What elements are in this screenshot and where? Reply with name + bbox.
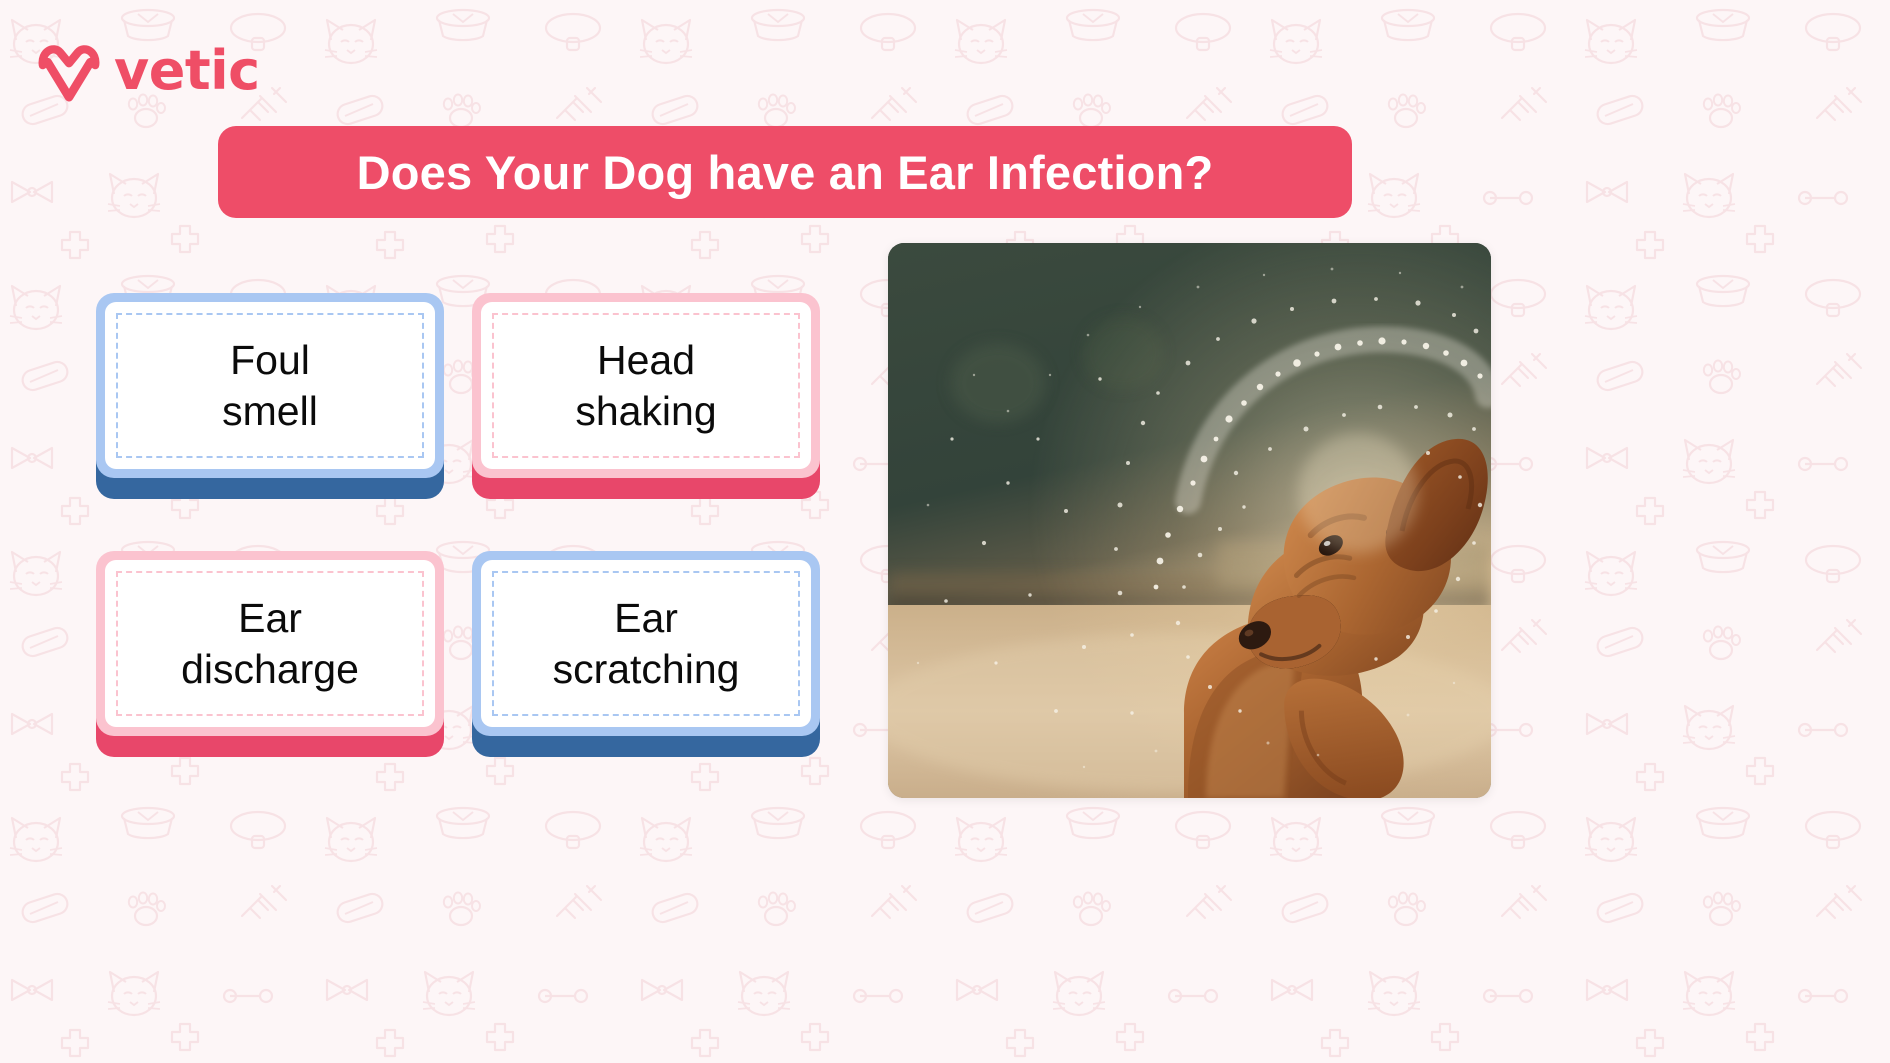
card-dashed-inset: Head shaking	[492, 313, 800, 458]
symptom-label-line2: scratching	[553, 646, 740, 692]
symptom-card-head-shaking[interactable]: Head shaking	[472, 293, 820, 499]
card-face: Ear scratching	[481, 560, 811, 727]
card-dashed-inset: Ear discharge	[116, 571, 424, 716]
symptom-label-line1: Head	[597, 337, 695, 383]
card-dashed-inset: Ear scratching	[492, 571, 800, 716]
heart-v-logo-icon	[38, 40, 100, 102]
card-face: Head shaking	[481, 302, 811, 469]
card-frame: Ear discharge	[96, 551, 444, 736]
symptom-card-grid: Foul smell Head shaking	[96, 293, 836, 757]
card-frame: Ear scratching	[472, 551, 820, 736]
symptom-label-line1: Ear	[614, 595, 678, 641]
symptom-card-ear-discharge[interactable]: Ear discharge	[96, 551, 444, 757]
symptom-label: Foul smell	[222, 335, 318, 435]
symptom-label-line1: Foul	[230, 337, 310, 383]
symptom-label: Ear discharge	[181, 593, 359, 693]
headline-text: Does Your Dog have an Ear Infection?	[357, 145, 1214, 200]
card-dashed-inset: Foul smell	[116, 313, 424, 458]
card-frame: Head shaking	[472, 293, 820, 478]
symptom-label: Ear scratching	[553, 593, 740, 693]
symptom-label-line2: smell	[222, 388, 318, 434]
symptom-card-foul-smell[interactable]: Foul smell	[96, 293, 444, 499]
card-face: Ear discharge	[105, 560, 435, 727]
symptom-label-line2: discharge	[181, 646, 359, 692]
brand-name: vetic	[114, 44, 260, 98]
headline-banner: Does Your Dog have an Ear Infection?	[218, 126, 1352, 218]
card-frame: Foul smell	[96, 293, 444, 478]
symptom-card-ear-scratching[interactable]: Ear scratching	[472, 551, 820, 757]
card-face: Foul smell	[105, 302, 435, 469]
symptom-label-line1: Ear	[238, 595, 302, 641]
symptom-label: Head shaking	[575, 335, 716, 435]
symptom-label-line2: shaking	[575, 388, 716, 434]
brand-logo[interactable]: vetic	[38, 36, 260, 106]
dog-shaking-water-photo	[888, 243, 1491, 798]
